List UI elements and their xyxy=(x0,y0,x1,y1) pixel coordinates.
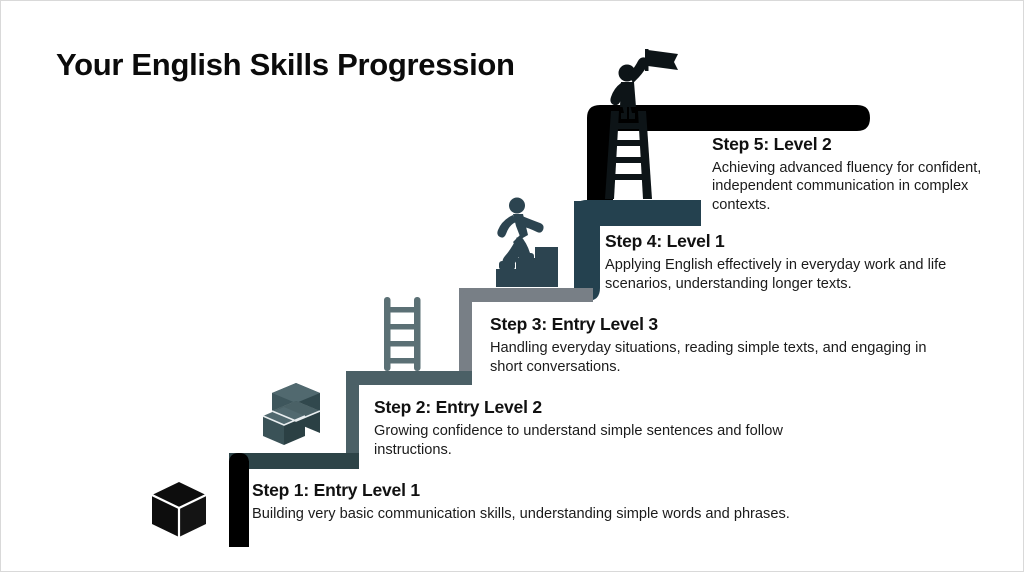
stair-step-1 xyxy=(229,453,249,547)
cube-icon xyxy=(152,482,206,537)
step-1-text-block: Step 1: Entry Level 1 Building very basi… xyxy=(252,480,812,524)
step-1-heading: Step 1: Entry Level 1 xyxy=(252,480,812,501)
step-5-text-block: Step 5: Level 2 Achieving advanced fluen… xyxy=(712,134,1012,214)
step-1-description: Building very basic communication skills… xyxy=(252,505,812,524)
stair-step-4-riser xyxy=(459,289,472,371)
stair-step-4 xyxy=(459,288,593,311)
step-4-description: Applying English effectively in everyday… xyxy=(605,256,1005,293)
step-2-heading: Step 2: Entry Level 2 xyxy=(374,397,844,418)
step-3-description: Handling everyday situations, reading si… xyxy=(490,339,960,376)
ladder-icon xyxy=(384,297,421,371)
step-5-heading: Step 5: Level 2 xyxy=(712,134,1012,155)
step-2-description: Growing confidence to understand simple … xyxy=(374,422,844,459)
step-4-text-block: Step 4: Level 1 Applying English effecti… xyxy=(605,231,1005,293)
person-climbing-stairs-icon xyxy=(496,198,558,288)
step-2-text-block: Step 2: Entry Level 2 Growing confidence… xyxy=(374,397,844,459)
step-4-heading: Step 4: Level 1 xyxy=(605,231,1005,252)
step-3-text-block: Step 3: Entry Level 3 Handling everyday … xyxy=(490,314,960,376)
infographic-canvas: Your English Skills Progression xyxy=(0,0,1024,572)
step-5-description: Achieving advanced fluency for confident… xyxy=(712,159,1012,214)
step-3-heading: Step 3: Entry Level 3 xyxy=(490,314,960,335)
stacked-blocks-icon xyxy=(263,383,320,445)
